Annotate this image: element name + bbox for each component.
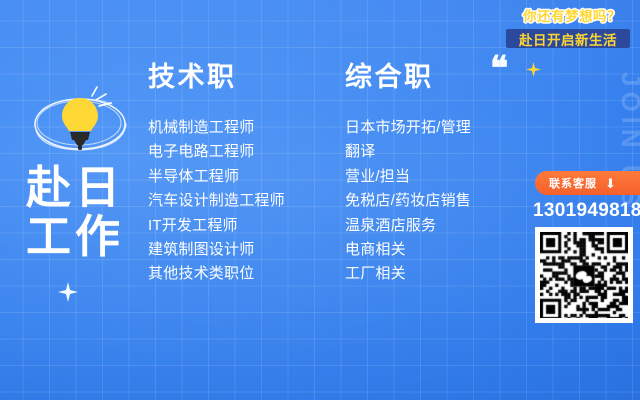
list-item[interactable]: IT开发工程师 [148, 214, 285, 238]
arrow-down-icon: ⬇ [605, 177, 616, 190]
list-item[interactable]: 温泉酒店服务 [345, 214, 471, 238]
list-item[interactable]: 日本市场开拓/管理 [345, 116, 471, 140]
list-item[interactable]: 电子电路工程师 [148, 140, 285, 164]
lightbulb-icon [22, 80, 140, 160]
page-title-line1: 赴日 [26, 163, 124, 212]
spark-star-white-icon [58, 282, 78, 302]
contact-support-label: 联系客服 [549, 175, 597, 191]
headline-question: 你还有梦想吗？ [508, 5, 636, 25]
list-item[interactable]: 汽车设计制造工程师 [148, 189, 285, 213]
phone-number: 13019498186 [533, 200, 640, 222]
column-general: 综合职 日本市场开拓/管理 翻译 营业/担当 免税店/药妆店销售 温泉酒店服务 … [345, 62, 471, 287]
qr-code-canvas [540, 232, 628, 318]
spark-star-icon [526, 62, 541, 77]
column-technical: 技术职 机械制造工程师 电子电路工程师 半导体工程师 汽车设计制造工程师 IT开… [148, 62, 285, 287]
column-general-list: 日本市场开拓/管理 翻译 营业/担当 免税店/药妆店销售 温泉酒店服务 电商相关… [345, 116, 471, 287]
headline-tagline-bar: 赴日开启新生活 [506, 29, 630, 48]
contact-support-button[interactable]: 联系客服 ⬇ [535, 171, 640, 195]
list-item[interactable]: 翻译 [345, 140, 471, 164]
page-title: 赴日 工作 [26, 163, 124, 261]
list-item[interactable]: 免税店/药妆店销售 [345, 189, 471, 213]
column-technical-heading: 技术职 [148, 62, 285, 92]
list-item[interactable]: 半导体工程师 [148, 165, 285, 189]
page-title-line2: 工作 [26, 212, 124, 261]
quote-mark-icon: ❝ [490, 52, 508, 86]
list-item[interactable]: 其他技术类职位 [148, 262, 285, 286]
list-item[interactable]: 工厂相关 [345, 262, 471, 286]
list-item[interactable]: 机械制造工程师 [148, 116, 285, 140]
list-item[interactable]: 电商相关 [345, 238, 471, 262]
list-item[interactable]: 营业/担当 [345, 165, 471, 189]
column-technical-list: 机械制造工程师 电子电路工程师 半导体工程师 汽车设计制造工程师 IT开发工程师… [148, 116, 285, 287]
poster-canvas: 你还有梦想吗？ 赴日开启新生活 ❝ JOIN US [0, 0, 640, 400]
qr-code[interactable] [535, 227, 633, 323]
list-item[interactable]: 建筑制图设计师 [148, 238, 285, 262]
column-general-heading: 综合职 [345, 62, 471, 92]
headline-tagline: 赴日开启新生活 [519, 29, 617, 49]
